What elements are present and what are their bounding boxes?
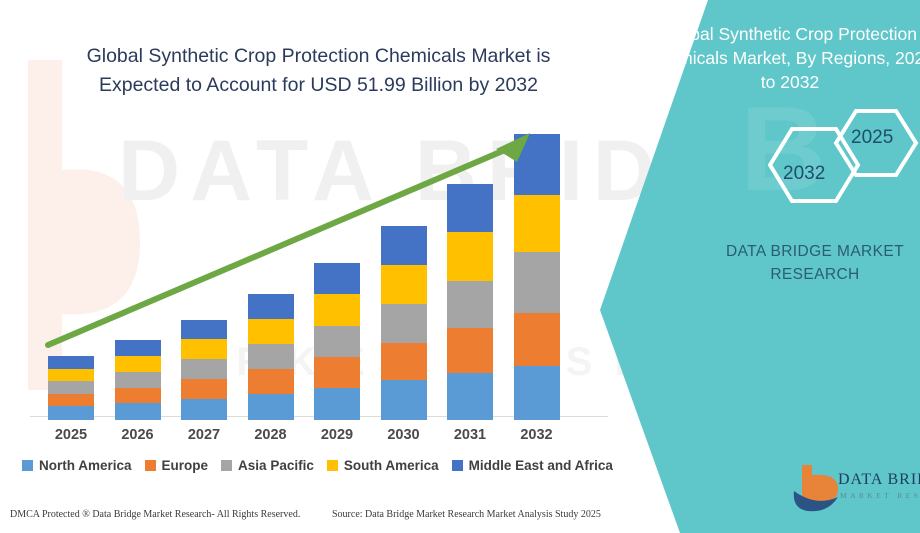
bar-segment bbox=[381, 265, 427, 304]
hexagon-year-badges: 2032 2025 bbox=[748, 105, 920, 225]
bar-segment bbox=[181, 320, 227, 340]
bar-column-2025[interactable] bbox=[48, 356, 94, 420]
bar-segment bbox=[381, 380, 427, 420]
legend-swatch-icon bbox=[452, 460, 463, 471]
right-teal-panel: B bbox=[590, 0, 920, 533]
bar-segment bbox=[314, 326, 360, 357]
bar-segment bbox=[115, 388, 161, 404]
bar-segment bbox=[447, 184, 493, 232]
bar-segment bbox=[447, 232, 493, 280]
bar-segment bbox=[115, 372, 161, 388]
hex-label-2025: 2025 bbox=[851, 127, 893, 149]
x-axis-label-2028: 2028 bbox=[241, 427, 301, 443]
x-axis-label-2025: 2025 bbox=[41, 427, 101, 443]
bar-segment bbox=[115, 356, 161, 372]
x-axis-label-2026: 2026 bbox=[108, 427, 168, 443]
bar-segment bbox=[514, 134, 560, 195]
bar-segment bbox=[514, 366, 560, 420]
bar-segment bbox=[381, 343, 427, 381]
legend-label: Europe bbox=[162, 458, 209, 473]
data-bridge-logo: DATA BRIDGE MARKET RESEARCH bbox=[788, 461, 916, 519]
bar-segment bbox=[181, 399, 227, 420]
bar-column-2032[interactable] bbox=[514, 134, 560, 420]
chart-x-axis-labels: 20252026202720282029203020312032 bbox=[30, 427, 610, 449]
bar-segment bbox=[447, 281, 493, 328]
bar-column-2031[interactable] bbox=[447, 184, 493, 420]
bar-column-2028[interactable] bbox=[248, 294, 294, 420]
legend-swatch-icon bbox=[327, 460, 338, 471]
bar-column-2029[interactable] bbox=[314, 263, 360, 420]
bar-column-2026[interactable] bbox=[115, 340, 161, 420]
logo-tagline: MARKET RESEARCH bbox=[840, 491, 920, 500]
legend-label: Asia Pacific bbox=[238, 458, 314, 473]
legend-swatch-icon bbox=[22, 460, 33, 471]
bar-segment bbox=[248, 369, 294, 394]
x-axis-label-2027: 2027 bbox=[174, 427, 234, 443]
chart-legend: North AmericaEuropeAsia PacificSouth Ame… bbox=[22, 458, 613, 473]
legend-swatch-icon bbox=[145, 460, 156, 471]
legend-item[interactable]: North America bbox=[22, 458, 132, 473]
x-axis-label-2029: 2029 bbox=[307, 427, 367, 443]
page-title: Global Synthetic Crop Protection Chemica… bbox=[46, 42, 591, 100]
bar-segment bbox=[447, 373, 493, 420]
legend-label: South America bbox=[344, 458, 439, 473]
bar-segment bbox=[181, 359, 227, 379]
legend-swatch-icon bbox=[221, 460, 232, 471]
legend-item[interactable]: Middle East and Africa bbox=[452, 458, 613, 473]
x-axis-label-2031: 2031 bbox=[440, 427, 500, 443]
bar-segment bbox=[48, 356, 94, 369]
bar-segment bbox=[514, 195, 560, 253]
legend-label: North America bbox=[39, 458, 132, 473]
legend-item[interactable]: Asia Pacific bbox=[221, 458, 314, 473]
bar-segment bbox=[447, 328, 493, 373]
bar-column-2030[interactable] bbox=[381, 226, 427, 420]
bar-segment bbox=[381, 226, 427, 265]
legend-item[interactable]: Europe bbox=[145, 458, 209, 473]
bar-segment bbox=[48, 394, 94, 407]
bar-segment bbox=[248, 394, 294, 420]
logo-wordmark: DATA BRIDGE bbox=[838, 471, 920, 489]
bar-segment bbox=[248, 344, 294, 369]
legend-label: Middle East and Africa bbox=[469, 458, 613, 473]
bar-segment bbox=[314, 357, 360, 387]
bar-segment bbox=[115, 340, 161, 356]
bar-segment bbox=[48, 381, 94, 394]
bar-segment bbox=[181, 379, 227, 399]
bar-segment bbox=[314, 263, 360, 294]
bar-segment bbox=[115, 403, 161, 420]
bar-segment bbox=[314, 294, 360, 325]
footer-source-note: Source: Data Bridge Market Research Mark… bbox=[332, 509, 601, 520]
bar-column-2027[interactable] bbox=[181, 320, 227, 421]
hex-label-2032: 2032 bbox=[783, 163, 825, 185]
bar-segment bbox=[514, 313, 560, 365]
footer-dmca-notice: DMCA Protected ® Data Bridge Market Rese… bbox=[10, 509, 300, 520]
bar-segment bbox=[181, 339, 227, 359]
x-axis-label-2030: 2030 bbox=[374, 427, 434, 443]
x-axis-label-2032: 2032 bbox=[507, 427, 567, 443]
bar-segment bbox=[48, 406, 94, 420]
bar-segment bbox=[248, 294, 294, 319]
bar-segment bbox=[514, 252, 560, 313]
bar-segment bbox=[248, 319, 294, 343]
stacked-bar-chart bbox=[30, 130, 610, 420]
legend-item[interactable]: South America bbox=[327, 458, 439, 473]
bar-segment bbox=[381, 304, 427, 343]
bar-segment bbox=[48, 369, 94, 382]
bar-segment bbox=[314, 388, 360, 420]
